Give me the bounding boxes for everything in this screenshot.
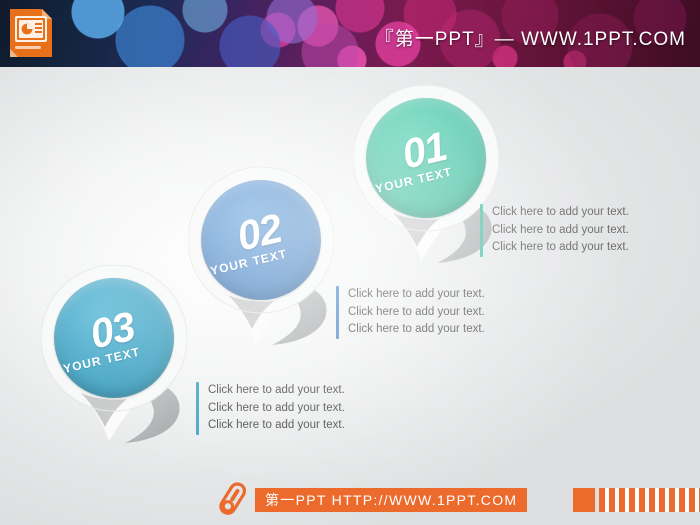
accent-bar-01 (480, 204, 483, 257)
speech-bubble-03[interactable]: 03 YOUR TEXT (41, 265, 187, 445)
body-text-01: Click here to add your text. Click here … (492, 204, 650, 257)
text-block-02[interactable]: Click here to add your text. Click here … (336, 286, 506, 339)
slide-canvas: 『第一PPT』— WWW.1PPT.COM 01 (0, 0, 700, 525)
footer-stripes (599, 488, 700, 512)
accent-bar-03 (196, 382, 199, 435)
footer-bar: 第一PPT HTTP://WWW.1PPT.COM (0, 475, 700, 525)
text-block-01[interactable]: Click here to add your text. Click here … (480, 204, 650, 257)
header-banner: 『第一PPT』— WWW.1PPT.COM (0, 0, 700, 67)
slide-stage: 01 YOUR TEXT Click here to add your text… (0, 67, 700, 525)
powerpoint-file-icon (8, 7, 54, 59)
footer-url-label: 第一PPT HTTP://WWW.1PPT.COM (255, 488, 527, 512)
bubble-disc-02 (201, 180, 321, 300)
body-text-03: Click here to add your text. Click here … (208, 382, 366, 435)
paperclip-icon (216, 481, 250, 519)
bubble-disc-03 (54, 278, 174, 398)
text-block-03[interactable]: Click here to add your text. Click here … (196, 382, 366, 435)
speech-bubble-02[interactable]: 02 YOUR TEXT (188, 167, 334, 347)
footer-stripe-lead (573, 488, 595, 512)
accent-bar-02 (336, 286, 339, 339)
bubble-disc-01 (366, 98, 486, 218)
body-text-02: Click here to add your text. Click here … (348, 286, 506, 339)
speech-bubble-01[interactable]: 01 YOUR TEXT (353, 85, 499, 265)
header-title: 『第一PPT』— WWW.1PPT.COM (375, 24, 686, 51)
